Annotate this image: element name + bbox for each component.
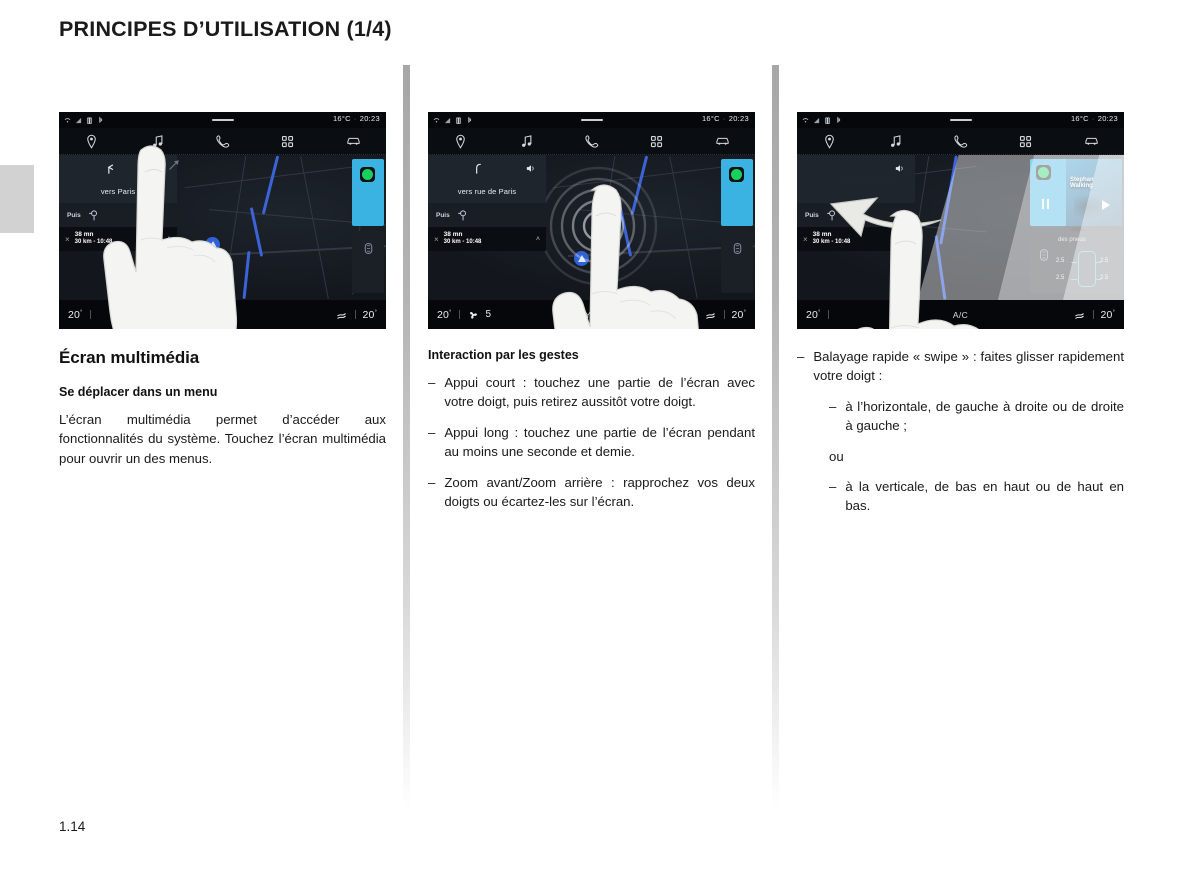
bullet-list: – Appui court : touchez une partie de l’…	[428, 373, 755, 511]
navigation-icon[interactable]	[822, 134, 837, 149]
album-art	[1066, 159, 1122, 226]
screen-body: Puis × 38 mn 30 km - 10:48 ˄	[797, 155, 1124, 300]
status-icons	[433, 117, 473, 124]
navigation-next-label: Puis	[67, 212, 81, 219]
phone-icon[interactable]	[215, 134, 230, 149]
screen-body: vers rue de Paris Puis × 38 mn 30 km - 1…	[428, 155, 755, 300]
navigation-eta[interactable]: × 38 mn 30 km - 10:48 ˄	[797, 227, 915, 251]
close-icon[interactable]: ×	[65, 235, 70, 244]
car-outline	[1078, 251, 1096, 287]
status-bar: 16°C · 20:23	[428, 112, 755, 128]
bullet-dash: –	[797, 347, 804, 386]
widget-column	[350, 155, 386, 300]
page-number: 1.14	[59, 819, 85, 834]
bullet-text: Zoom avant/Zoom arrière : rapprochez vos…	[444, 473, 755, 512]
climate-bar-3[interactable]: 20° A/C 20°	[797, 300, 1124, 329]
outside-temperature: 16°C	[1071, 114, 1089, 123]
status-icons	[64, 117, 104, 124]
bullet-text: Appui court : touchez une partie de l’éc…	[444, 373, 755, 412]
signal-icon	[813, 117, 820, 124]
tyre-value-fr: 2.5	[1100, 258, 1108, 264]
roundabout-icon	[87, 209, 100, 222]
eta-time: 38 mn	[813, 232, 851, 239]
navigation-card-top	[797, 155, 915, 187]
bullet-dash: –	[829, 477, 836, 516]
media-widget[interactable]	[352, 159, 384, 226]
bullet-dash: –	[428, 423, 435, 462]
list-item-sub: – à l’horizontale, de gauche à droite ou…	[829, 397, 1124, 436]
vehicle-icon[interactable]	[715, 134, 730, 149]
status-bar: 16°C · 20:23	[59, 112, 386, 128]
track-title: Stephan Walking	[1070, 177, 1118, 189]
climate-bar-2[interactable]: 20° 5 SYNC 20°	[428, 300, 755, 329]
bullet-text: Appui long : touchez une partie de l’écr…	[444, 423, 755, 462]
status-bar: 16°C · 20:23	[797, 112, 1124, 128]
outside-temperature: 16°C	[702, 114, 720, 123]
tyre-pressure-widget-expanded[interactable]: des pneus 2.5 2.5 2.5 2.5	[1030, 231, 1122, 293]
status-right: 16°C · 20:23	[1071, 114, 1118, 123]
screen-handle[interactable]	[950, 119, 972, 121]
multimedia-screen-1: 16°C · 20:23	[59, 112, 386, 329]
navigation-card-top	[59, 155, 177, 187]
bullet-text: à la verticale, de bas en haut ou de hau…	[845, 477, 1124, 516]
screen-handle[interactable]	[581, 119, 603, 121]
tyre-widget-title: des pneus	[1058, 237, 1086, 243]
signal-icon	[75, 117, 82, 124]
column-3: 16°C · 20:23	[797, 112, 1124, 516]
navigation-eta[interactable]: × 38 mn 30 km - 10:48 ˄	[59, 227, 177, 251]
vehicle-position-marker	[574, 251, 589, 266]
navigation-next-step: Puis	[428, 203, 546, 227]
bullet-dash: –	[428, 373, 435, 412]
status-right: 16°C · 20:23	[333, 114, 380, 123]
navigation-next-step: Puis	[59, 203, 177, 227]
column-separator-1	[403, 65, 410, 810]
spotify-icon	[729, 167, 744, 182]
apps-icon[interactable]	[280, 134, 295, 149]
clock: 20:23	[1098, 114, 1118, 123]
navigation-card-top	[428, 155, 546, 187]
outside-temperature: 16°C	[333, 114, 351, 123]
tyre-value-rl: 2.5	[1056, 275, 1064, 281]
multimedia-screen-2: 16°C · 20:23	[428, 112, 755, 329]
signal-icon	[444, 117, 451, 124]
multimedia-screen-3: 16°C · 20:23	[797, 112, 1124, 329]
phone-icon[interactable]	[584, 134, 599, 149]
margin-tab	[0, 165, 34, 233]
column-separator-2	[772, 65, 779, 810]
eta-distance: 30 km - 10:48	[444, 239, 482, 245]
wifi-icon	[802, 117, 809, 124]
climate-sync-label[interactable]: SYNC	[428, 310, 755, 320]
volume-icon[interactable]	[156, 163, 167, 174]
section-subheading: Se déplacer dans un menu	[59, 385, 386, 399]
status-separator: ·	[1092, 114, 1095, 123]
battery-icon	[86, 117, 93, 124]
status-separator: ·	[723, 114, 726, 123]
music-icon[interactable]	[888, 134, 903, 149]
navigation-next-label: Puis	[436, 212, 450, 219]
bullet-text: Balayage rapide « swipe » : faites gliss…	[813, 347, 1124, 386]
navigation-eta[interactable]: × 38 mn 30 km - 10:48 ˄	[428, 227, 546, 251]
chevron-up-icon[interactable]: ˄	[536, 236, 540, 243]
close-icon[interactable]: ×	[803, 235, 808, 244]
eta-distance: 30 km - 10:48	[75, 239, 113, 245]
app-navbar[interactable]	[59, 128, 386, 155]
eta-distance: 30 km - 10:48	[813, 239, 851, 245]
apps-icon[interactable]	[649, 134, 664, 149]
wifi-icon	[64, 117, 71, 124]
page-title: PRINCIPES D’UTILISATION (1/4)	[59, 17, 392, 42]
tyre-icon	[362, 242, 375, 255]
eta-time: 38 mn	[444, 232, 482, 239]
volume-icon[interactable]	[525, 163, 536, 174]
column-2: 16°C · 20:23	[428, 112, 755, 511]
navigation-icon[interactable]	[84, 134, 99, 149]
list-item: – Appui court : touchez une partie de l’…	[428, 373, 755, 412]
tyre-pressure-widget[interactable]	[721, 231, 753, 293]
climate-ac-label[interactable]: A/C	[59, 310, 386, 320]
status-separator: ·	[354, 114, 357, 123]
turn-arrow-icon	[103, 160, 117, 178]
tyre-icon	[731, 242, 744, 255]
clock: 20:23	[729, 114, 749, 123]
bullet-list: – Balayage rapide « swipe » : faites gli…	[797, 347, 1124, 516]
speed-badge: 50	[207, 258, 224, 267]
navigation-next-step: Puis	[797, 203, 915, 227]
chevron-up-icon[interactable]: ˄	[905, 236, 909, 243]
climate-ac-label[interactable]: A/C	[797, 310, 1124, 320]
bluetooth-icon	[835, 117, 842, 124]
tyre-value-rr: 2.5	[1100, 275, 1108, 281]
phone-icon[interactable]	[953, 134, 968, 149]
battery-icon	[455, 117, 462, 124]
close-icon[interactable]: ×	[434, 235, 439, 244]
navigation-card[interactable]: Puis × 38 mn 30 km - 10:48 ˄	[797, 155, 915, 251]
music-icon[interactable]	[150, 134, 165, 149]
navigation-next-label: Puis	[805, 212, 819, 219]
turn-arrow-icon	[472, 160, 486, 178]
widget-column	[719, 155, 755, 300]
vehicle-icon[interactable]	[346, 134, 361, 149]
column-1: 16°C · 20:23	[59, 112, 386, 468]
media-widget[interactable]	[721, 159, 753, 226]
list-item: – Balayage rapide « swipe » : faites gli…	[797, 347, 1124, 386]
tyre-diagram: 2.5 2.5 2.5 2.5	[1056, 249, 1118, 289]
bullet-text: à l’horizontale, de gauche à droite ou d…	[845, 397, 1124, 436]
app-navbar[interactable]	[428, 128, 755, 155]
screen-body: 50 vers Paris Puis ×	[59, 155, 386, 300]
wifi-icon	[433, 117, 440, 124]
spotify-icon	[360, 167, 375, 182]
volume-icon[interactable]	[894, 163, 905, 174]
spotify-icon	[1036, 165, 1051, 180]
play-icon[interactable]	[1102, 200, 1110, 210]
apps-icon[interactable]	[1018, 134, 1033, 149]
clock: 20:23	[360, 114, 380, 123]
bullet-dash: –	[829, 397, 836, 436]
app-navbar[interactable]	[797, 128, 1124, 155]
list-item: – Appui long : touchez une partie de l’é…	[428, 423, 755, 462]
navigation-street	[797, 187, 915, 203]
list-item-sub: – à la verticale, de bas en haut ou de h…	[829, 477, 1124, 516]
section-heading: Écran multimédia	[59, 348, 386, 368]
pause-icon[interactable]	[1042, 199, 1049, 209]
manual-page: PRINCIPES D’UTILISATION (1/4) 16°C · 20:…	[0, 0, 1182, 875]
section-subheading: Interaction par les gestes	[428, 348, 755, 362]
list-item: – Zoom avant/Zoom arrière : rapprochez v…	[428, 473, 755, 512]
navigation-card[interactable]: vers Paris Puis × 38 mn 30 km - 10:48 ˄	[59, 155, 177, 251]
bluetooth-icon	[466, 117, 473, 124]
roundabout-icon	[456, 209, 469, 222]
climate-bar-1[interactable]: 20° A/C 20°	[59, 300, 386, 329]
tyre-value-fl: 2.5	[1056, 258, 1064, 264]
navigation-icon[interactable]	[453, 134, 468, 149]
status-icons	[802, 117, 842, 124]
section-paragraph: L’écran multimédia permet d’accéder aux …	[59, 410, 386, 468]
tyre-icon	[1037, 248, 1051, 262]
navigation-street: vers Paris	[59, 187, 177, 203]
connector-text: ou	[829, 447, 1124, 466]
roundabout-icon	[825, 209, 838, 222]
bluetooth-icon	[97, 117, 104, 124]
vehicle-position-marker	[205, 237, 220, 252]
battery-icon	[824, 117, 831, 124]
chevron-up-icon[interactable]: ˄	[167, 236, 171, 243]
eta-time: 38 mn	[75, 232, 113, 239]
screen-handle[interactable]	[212, 119, 234, 121]
status-right: 16°C · 20:23	[702, 114, 749, 123]
vehicle-icon[interactable]	[1084, 134, 1099, 149]
navigation-street: vers rue de Paris	[428, 187, 546, 203]
bullet-dash: –	[428, 473, 435, 512]
music-icon[interactable]	[519, 134, 534, 149]
navigation-card[interactable]: vers rue de Paris Puis × 38 mn 30 km - 1…	[428, 155, 546, 251]
media-widget-expanded[interactable]: Stephan Walking	[1030, 159, 1122, 226]
tyre-pressure-widget[interactable]	[352, 231, 384, 293]
